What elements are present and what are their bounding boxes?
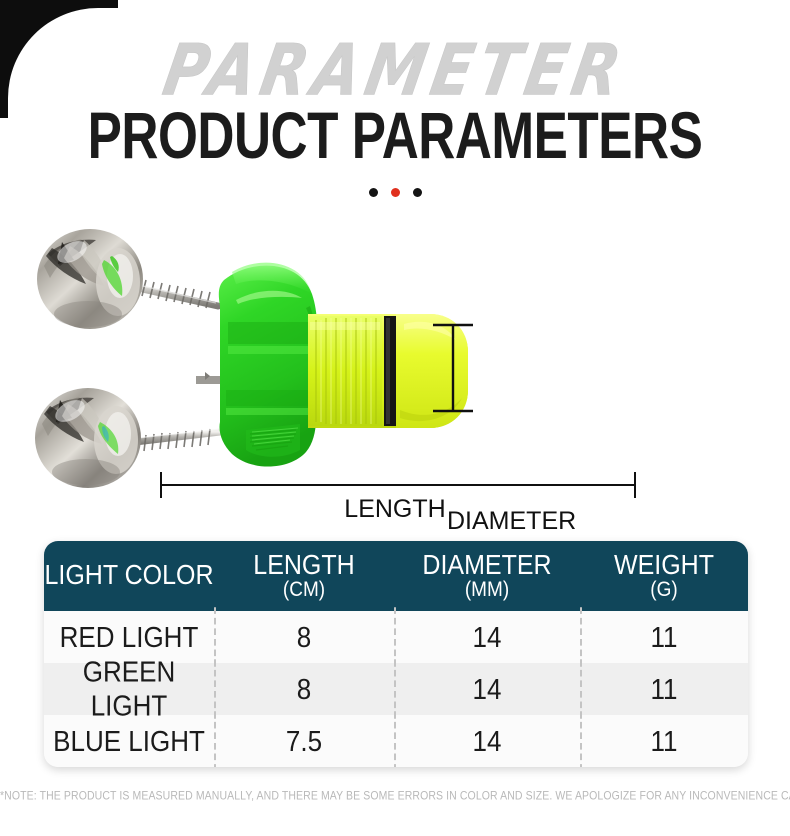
bell-upper [37, 229, 143, 329]
product-illustration: DIAMETER [0, 226, 790, 526]
header-title: DIAMETER [422, 551, 551, 580]
decorative-dots [0, 188, 790, 197]
table-body: RED LIGHT81411GREEN LIGHT81411BLUE LIGHT… [44, 611, 748, 767]
length-dimension-line [161, 472, 635, 498]
table-header-cell-2: DIAMETER(MM) [394, 541, 580, 615]
product-parameters-page: PARAMETER PRODUCT PARAMETERS [0, 0, 790, 836]
dot-3 [413, 188, 422, 197]
dot-1 [369, 188, 378, 197]
page-title: PRODUCT PARAMETERS [20, 98, 771, 174]
disclaimer-note: *NOTE: THE PRODUCT IS MEASURED MANUALLY,… [0, 789, 790, 802]
table-cell-diameter: 14 [394, 608, 580, 665]
table-row: BLUE LIGHT7.51411 [44, 715, 748, 767]
table-cell-weight: 11 [580, 608, 748, 665]
bell-lower [35, 388, 141, 488]
header-title: WEIGHT [614, 551, 714, 580]
dot-2 [391, 188, 400, 197]
table-cell-length: 8 [214, 608, 394, 665]
specification-table: LIGHT COLORLENGTH(CM)DIAMETER(MM)WEIGHT(… [44, 541, 748, 767]
header-title: LENGTH [253, 551, 354, 580]
product-image-svg [0, 226, 790, 526]
table-cell-weight: 11 [580, 712, 748, 767]
table-cell-color: GREEN LIGHT [44, 660, 214, 717]
table-header-cell-3: WEIGHT(G) [580, 541, 748, 615]
header-unit: (MM) [465, 579, 509, 601]
table-cell-diameter: 14 [394, 712, 580, 767]
table-cell-color: BLUE LIGHT [44, 712, 214, 767]
table-cell-length: 8 [214, 660, 394, 717]
table-row: GREEN LIGHT81411 [44, 663, 748, 715]
table-cell-diameter: 14 [394, 660, 580, 717]
table-header-row: LIGHT COLORLENGTH(CM)DIAMETER(MM)WEIGHT(… [44, 541, 748, 611]
table-header-cell-1: LENGTH(CM) [214, 541, 394, 615]
header-unit: (G) [650, 579, 677, 601]
clip-metal-tab [196, 372, 224, 384]
table-cell-length: 7.5 [214, 712, 394, 767]
table-cell-weight: 11 [580, 660, 748, 717]
table-header-cell-0: LIGHT COLOR [44, 541, 214, 615]
clip-body-green [219, 263, 317, 467]
header-unit: (CM) [283, 579, 325, 601]
header-title: LIGHT COLOR [44, 562, 213, 591]
diameter-label: DIAMETER [447, 507, 576, 536]
